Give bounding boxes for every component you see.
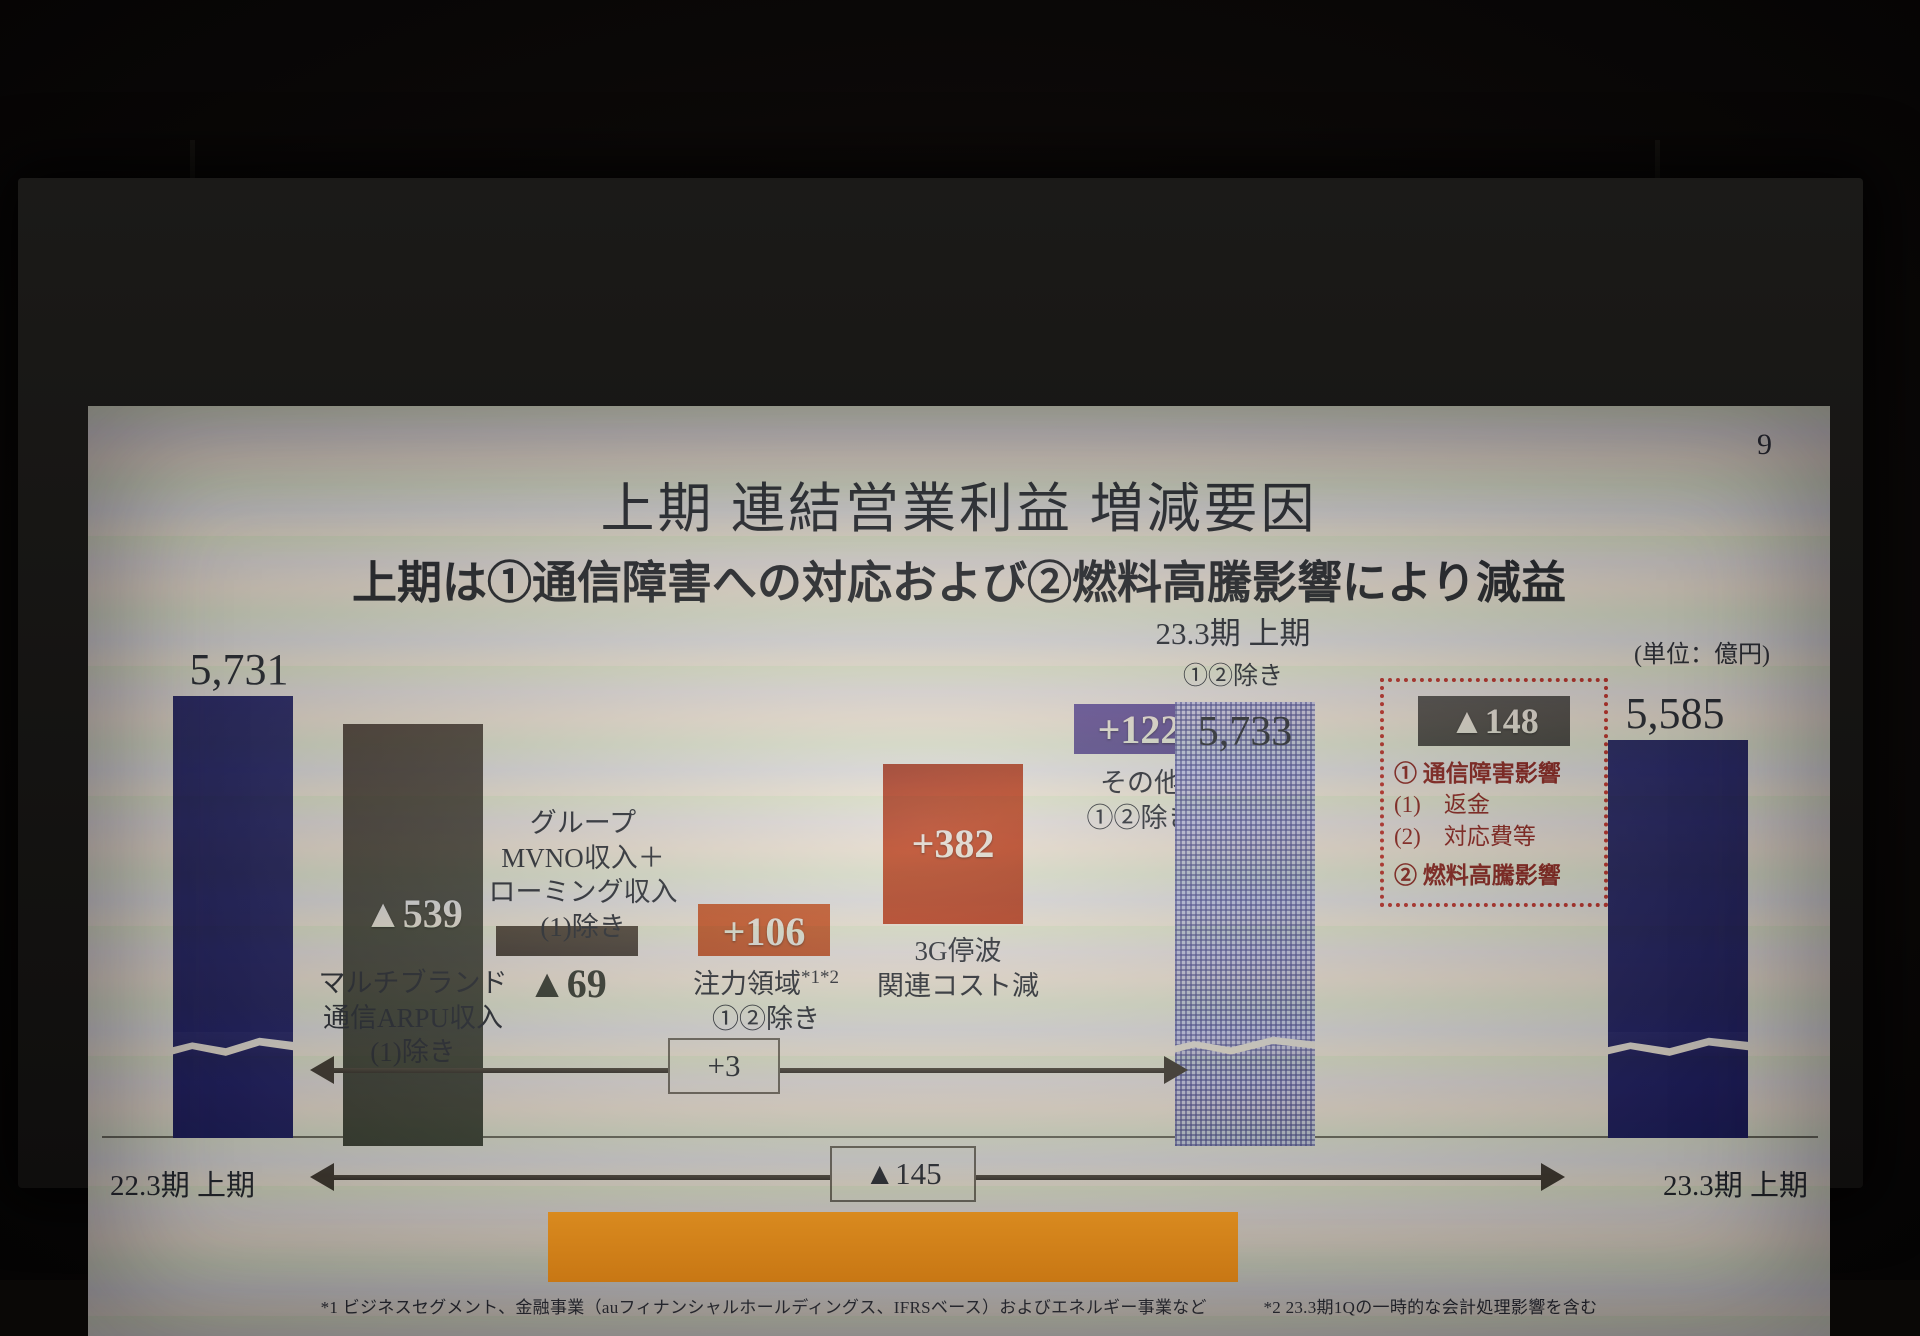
impact-item-1b: (2) 対応費等 bbox=[1394, 821, 1594, 852]
page-number: 9 bbox=[1757, 428, 1772, 462]
footnote-2: *2 23.3期1Qの一時的な会計処理影響を含む bbox=[1263, 1298, 1597, 1317]
bar-end-break-notch bbox=[1608, 1032, 1748, 1058]
bar-step-3g: +382 bbox=[883, 764, 1023, 924]
screen-hanger-right bbox=[1655, 140, 1660, 180]
bar-break-notch bbox=[173, 1032, 293, 1058]
arrow-head-left-icon bbox=[310, 1163, 334, 1191]
arrow-head-right-icon bbox=[1164, 1056, 1188, 1084]
impact-badge-value: ▲148 bbox=[1418, 700, 1570, 742]
bar-step-mvno-value: ▲69 bbox=[496, 958, 638, 1009]
arrow-subtotal-change-label: +3 bbox=[668, 1038, 780, 1094]
slide-content: 9 上期 連結営業利益 増減要因 上期は①通信障害への対応および②燃料高騰影響に… bbox=[88, 406, 1830, 1336]
projection-screen-frame: 9 上期 連結営業利益 増減要因 上期は①通信障害への対応および②燃料高騰影響に… bbox=[18, 178, 1863, 1188]
stage-podium bbox=[548, 1212, 1238, 1282]
bar-end-total bbox=[1608, 740, 1748, 1138]
arrow-head-left-icon bbox=[310, 1056, 334, 1084]
footnote-1: *1 ビジネスセグメント、金融事業（auフィナンシャルホールディングス、IFRS… bbox=[321, 1298, 1207, 1317]
bar-subtotal bbox=[1175, 702, 1315, 1146]
unit-note: (単位：億円) bbox=[1634, 634, 1770, 669]
bar-subtotal-break-notch bbox=[1175, 1032, 1315, 1056]
bar-step-focus: +106 bbox=[698, 904, 830, 956]
bar-step-3g-value: +382 bbox=[883, 820, 1023, 867]
subtotal-value: 5,733 bbox=[1175, 708, 1315, 756]
impact-item-1: ① 通信障害影響 bbox=[1394, 758, 1594, 789]
dark-room-background: 9 上期 連結営業利益 増減要因 上期は①通信障害への対応および②燃料高騰影響に… bbox=[0, 0, 1920, 1280]
start-total-value: 5,731 bbox=[144, 644, 334, 695]
start-period-label: 22.3期 上期 bbox=[110, 1162, 255, 1204]
subtotal-header-sub: ①②除き bbox=[1183, 663, 1283, 690]
caption-3g: 3G停波関連コスト減 bbox=[858, 934, 1058, 1003]
screen-hanger-left bbox=[190, 140, 195, 180]
footnotes: *1 ビジネスセグメント、金融事業（auフィナンシャルホールディングス、IFRS… bbox=[88, 1293, 1830, 1318]
arrow-head-right-icon bbox=[1541, 1163, 1565, 1191]
end-period-label: 23.3期 上期 bbox=[1663, 1162, 1808, 1204]
subtotal-header-main: 23.3期 上期 bbox=[1156, 616, 1311, 651]
caption-focus: 注力領域*1*2①②除き bbox=[666, 966, 866, 1036]
impact-badge: ▲148 bbox=[1418, 696, 1570, 746]
end-total-value: 5,585 bbox=[1580, 688, 1770, 739]
arrow-total-change-label: ▲145 bbox=[830, 1146, 976, 1202]
caption-mvno: グループMVNO収入＋ローミング収入(1)除き bbox=[458, 806, 708, 944]
impact-item-1a: (1) 返金 bbox=[1394, 789, 1594, 820]
bar-start-total bbox=[173, 696, 293, 1138]
impact-item-2: ② 燃料高騰影響 bbox=[1394, 860, 1594, 891]
presentation-slide: 9 上期 連結営業利益 増減要因 上期は①通信障害への対応および②燃料高騰影響に… bbox=[88, 406, 1830, 1336]
page-title: 上期 連結営業利益 増減要因 bbox=[88, 464, 1830, 543]
bar-step-focus-value: +106 bbox=[698, 908, 830, 955]
impact-callout: ▲148 ① 通信障害影響 (1) 返金 (2) 対応費等 ② 燃料高騰影響 bbox=[1380, 678, 1608, 907]
page-subtitle: 上期は①通信障害への対応および②燃料高騰影響により減益 bbox=[88, 546, 1830, 611]
subtotal-header: 23.3期 上期 ①②除き bbox=[1088, 614, 1378, 695]
